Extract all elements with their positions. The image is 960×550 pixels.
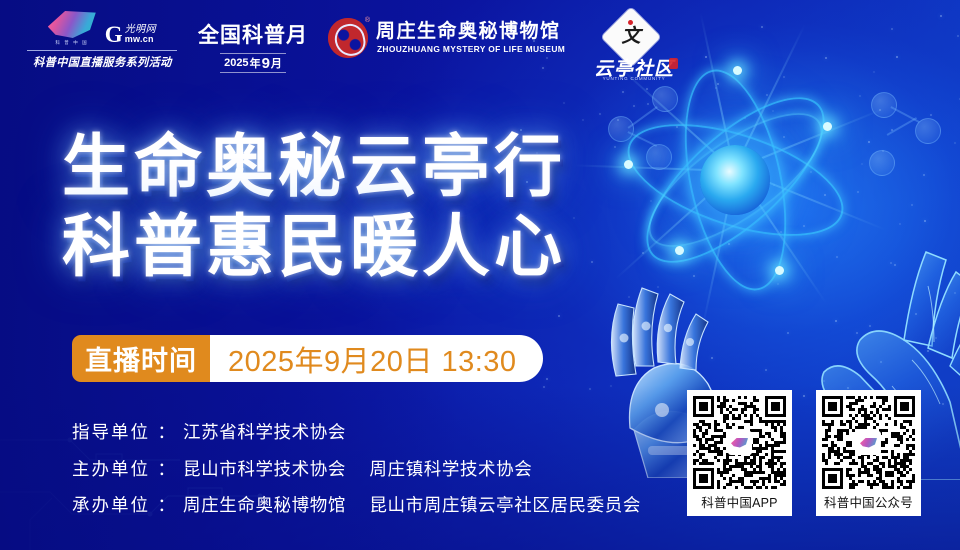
kepu-wing-caption: 科 普 中 国 bbox=[55, 40, 88, 46]
science-month-number: 9 bbox=[262, 56, 270, 71]
logo-kepu-china-gmw: 科 普 中 国 G 光明网 mw.cn 科普中国直播服务系列活动 bbox=[26, 14, 178, 70]
broadcast-time-badge: 直播时间 bbox=[72, 335, 210, 382]
organization-value-2: 周庄镇科学技术协会 bbox=[369, 459, 532, 479]
community-seal-icon bbox=[669, 58, 678, 69]
qr-caption: 科普中国公众号 bbox=[824, 489, 913, 514]
qr-card-app[interactable]: 科普中国APP bbox=[687, 390, 792, 516]
kepu-wing-icon bbox=[48, 11, 96, 38]
museum-name-cn: 周庄生命奥秘博物馆 bbox=[376, 22, 566, 42]
organization-role: 指导单位 bbox=[72, 422, 150, 442]
organization-value-2: 昆山市周庄镇云亭社区居民委员会 bbox=[369, 495, 641, 515]
science-month-date: 2025 年 9 月 bbox=[220, 53, 286, 73]
logo-yunting-community: 文 云亭社区 YUNTING COMMUNITY bbox=[588, 14, 680, 88]
molecule-cluster-right-icon bbox=[865, 92, 960, 192]
poster-root: 科 普 中 国 G 光明网 mw.cn 科普中国直播服务系列活动 全国科普月 2… bbox=[0, 0, 960, 550]
science-month-year: 2025 bbox=[224, 57, 248, 69]
science-month-title: 全国科普月 bbox=[198, 19, 308, 49]
atom-icon bbox=[615, 60, 855, 300]
organization-list: 指导单位 ： 江苏省科学技术协会 主办单位 ： 昆山市科学技术协会 周庄镇科学技… bbox=[72, 424, 641, 534]
molecule-cluster-left-icon bbox=[608, 86, 718, 186]
qr-code-image[interactable] bbox=[822, 396, 915, 489]
qr-code-image[interactable] bbox=[693, 396, 786, 489]
organization-separator: ： bbox=[155, 422, 177, 442]
organization-value: 周庄生命奥秘博物馆 bbox=[183, 495, 346, 515]
organization-role: 承办单位 bbox=[72, 495, 150, 515]
qr-card-official-account[interactable]: 科普中国公众号 bbox=[816, 390, 921, 516]
gmw-g-letter: G bbox=[105, 23, 123, 46]
logo-bar: 科 普 中 国 G 光明网 mw.cn 科普中国直播服务系列活动 全国科普月 2… bbox=[26, 14, 680, 88]
organization-value: 江苏省科学技术协会 bbox=[183, 422, 346, 442]
organization-row: 承办单位 ： 周庄生命奥秘博物馆 昆山市周庄镇云亭社区居民委员会 bbox=[72, 497, 641, 515]
museum-name-en: ZHOUZHUANG MYSTERY OF LIFE MUSEUM bbox=[377, 45, 565, 54]
organization-row: 指导单位 ： 江苏省科学技术协会 bbox=[72, 424, 641, 442]
logo-zhouzhuang-museum: ® 周庄生命奥秘博物馆 ZHOUZHUANG MYSTERY OF LIFE M… bbox=[328, 14, 566, 58]
logo-divider bbox=[27, 50, 177, 51]
logo-national-science-month: 全国科普月 2025 年 9 月 bbox=[200, 14, 306, 73]
gmw-logo: G 光明网 mw.cn bbox=[105, 23, 156, 46]
qr-center-logo-icon bbox=[728, 431, 752, 455]
organization-row: 主办单位 ： 昆山市科学技术协会 周庄镇科学技术协会 bbox=[72, 461, 641, 479]
science-month-suffix: 月 bbox=[271, 55, 282, 71]
organization-separator: ： bbox=[155, 495, 177, 515]
broadcast-time-bar: 直播时间 2025年9月20日 13:30 bbox=[72, 335, 543, 382]
kepu-series-subtitle: 科普中国直播服务系列活动 bbox=[33, 54, 172, 70]
qr-center-logo-icon bbox=[857, 431, 881, 455]
title-line-2: 科普惠民暖人心 bbox=[62, 208, 566, 288]
organization-role: 主办单位 bbox=[72, 459, 150, 479]
science-month-year-suffix: 年 bbox=[250, 55, 261, 71]
community-pinyin: YUNTING COMMUNITY bbox=[588, 76, 680, 81]
museum-emblem-icon: ® bbox=[328, 18, 368, 58]
gmw-en-label: mw.cn bbox=[125, 35, 157, 44]
organization-value: 昆山市科学技术协会 bbox=[183, 459, 346, 479]
page-title: 生命奥秘云亭行 科普惠民暖人心 bbox=[62, 128, 566, 288]
qr-code-group: 科普中国APP 科普中国公众号 bbox=[687, 390, 921, 516]
broadcast-datetime: 2025年9月20日 13:30 bbox=[210, 335, 543, 382]
title-line-1: 生命奥秘云亭行 bbox=[62, 128, 566, 208]
organization-separator: ： bbox=[155, 459, 177, 479]
qr-caption: 科普中国APP bbox=[701, 489, 777, 514]
